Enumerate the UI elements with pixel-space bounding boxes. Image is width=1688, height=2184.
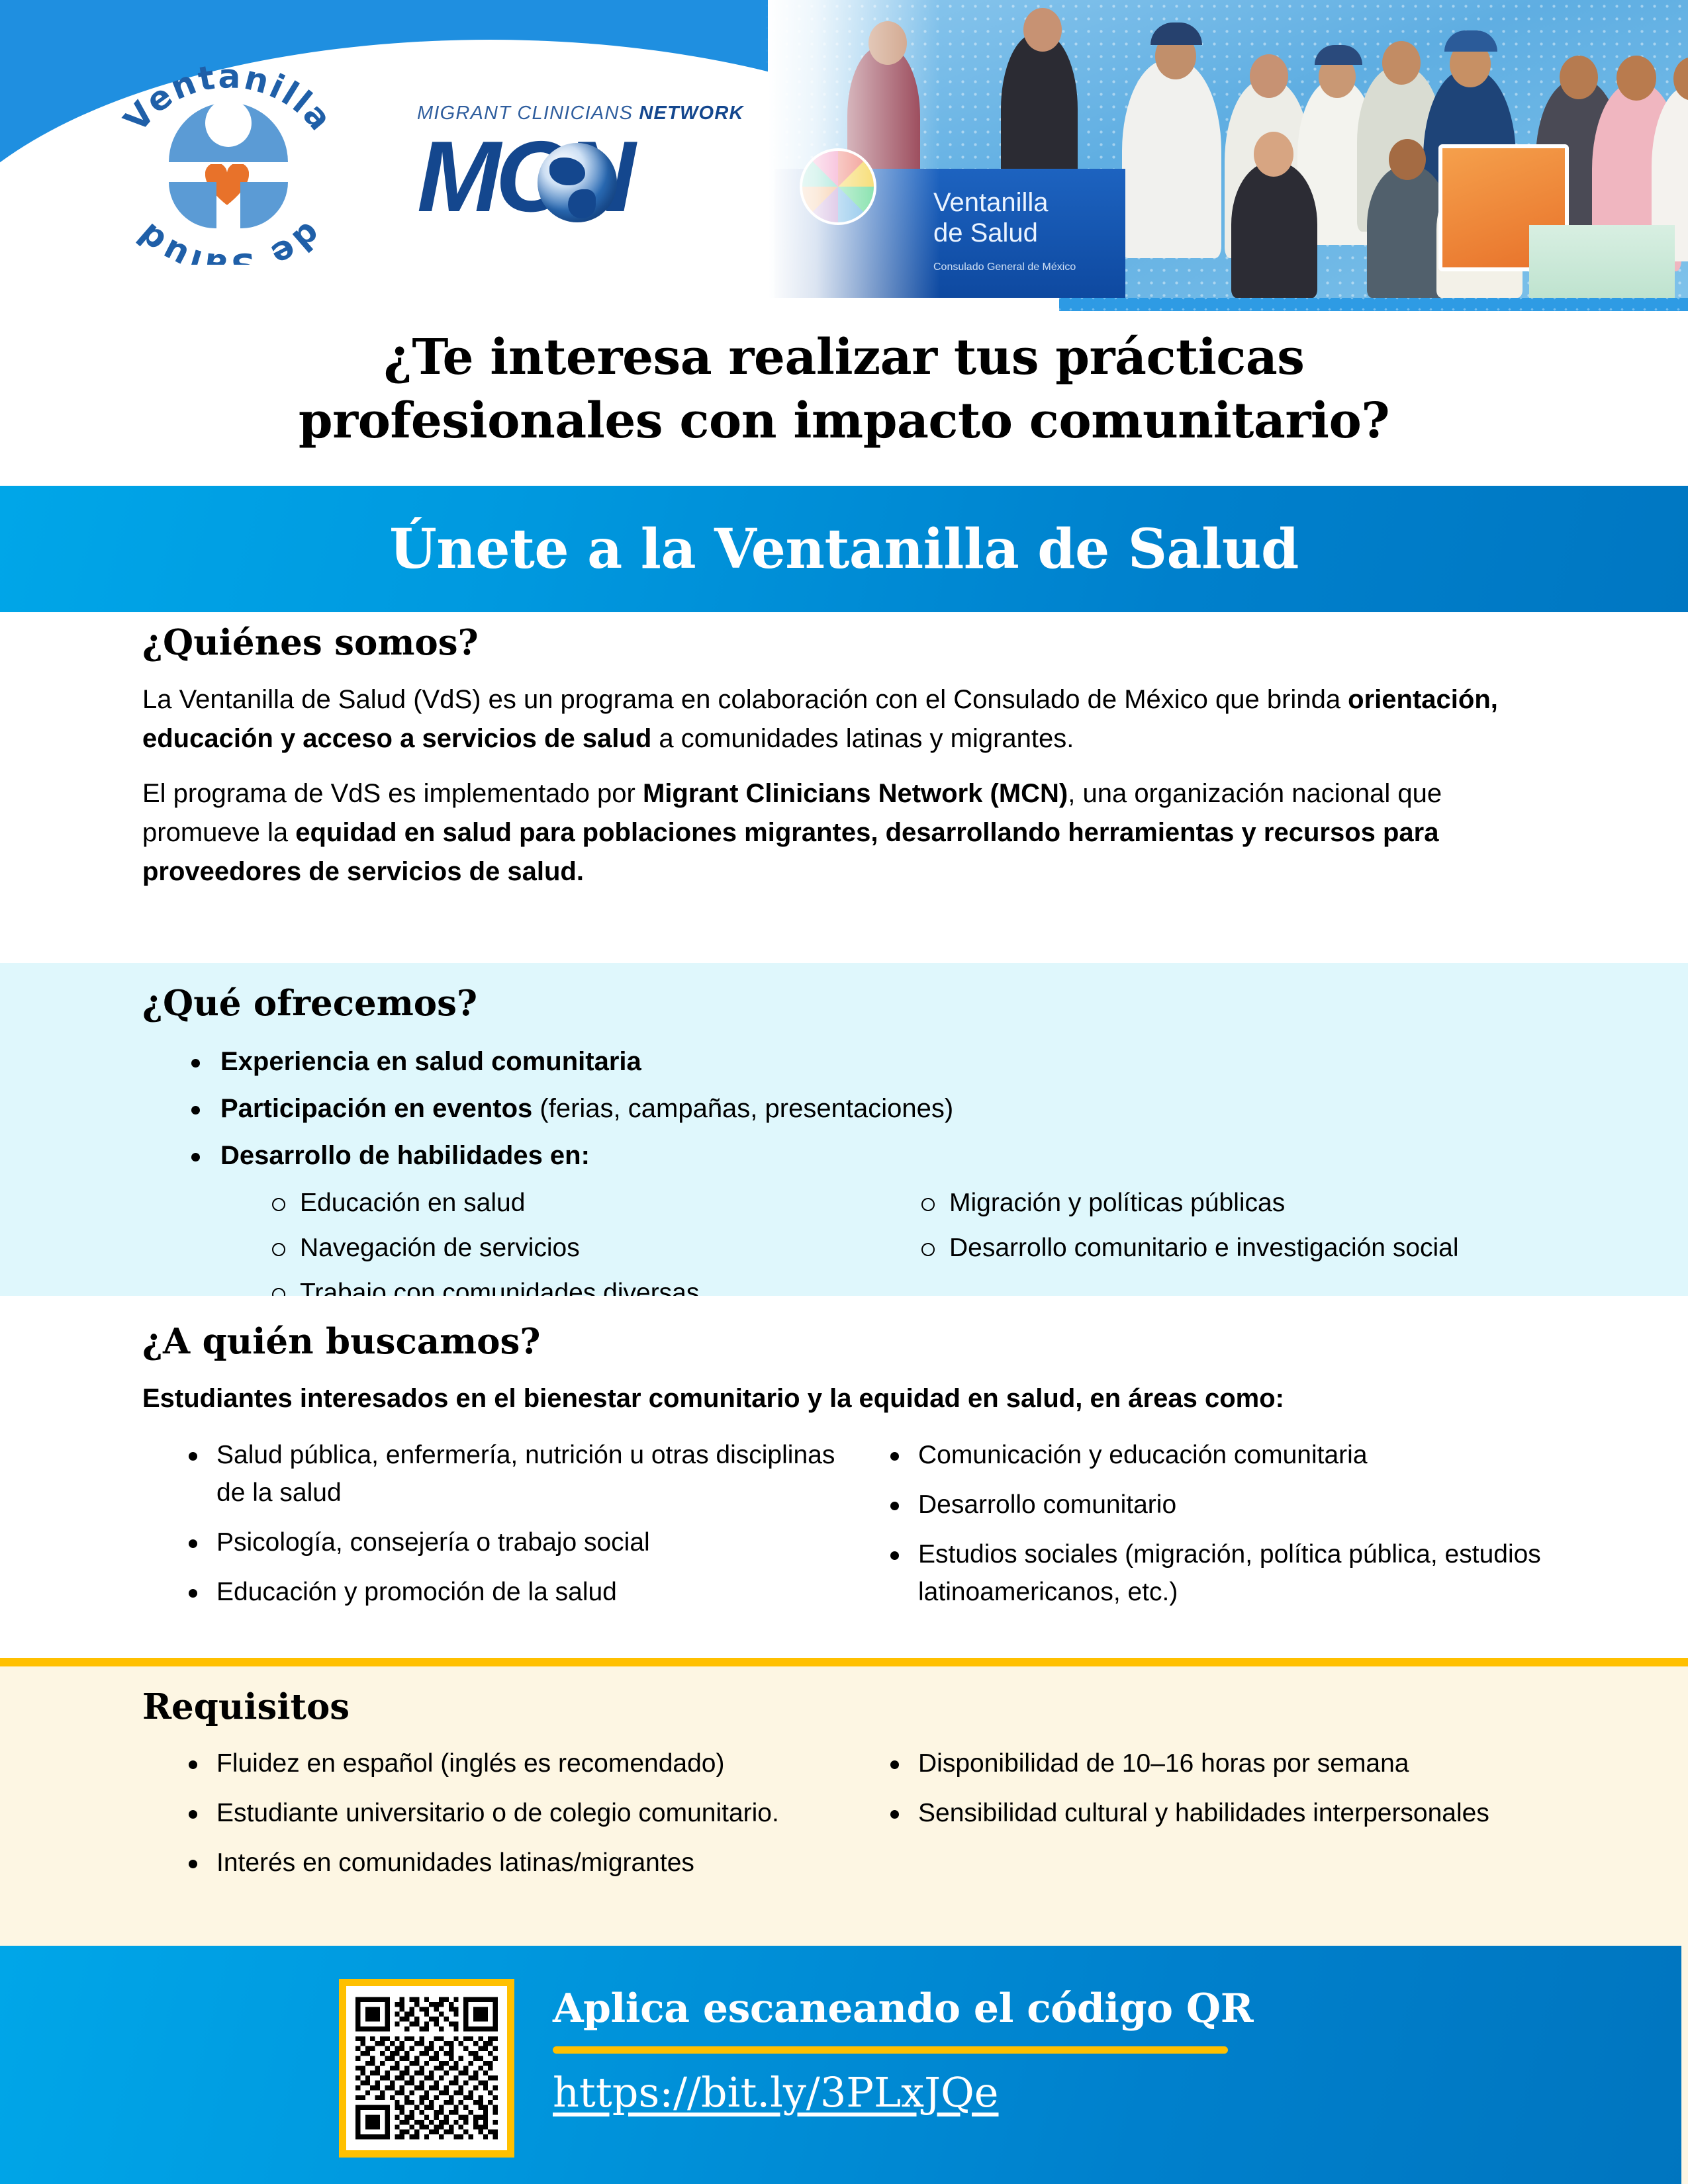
list-item: Migración y políticas públicas: [949, 1181, 1546, 1226]
photo-person-head: [1617, 56, 1656, 101]
list-item: Estudiante universitario o de colegio co…: [216, 1794, 844, 1832]
a-quien-buscamos-lead: Estudiantes interesados en el bienestar …: [142, 1379, 1546, 1418]
list-item: Navegación de servicios: [300, 1226, 883, 1271]
photo-person: [1122, 60, 1221, 258]
ofrecemos-sub-col-left: Educación en salud Navegación de servici…: [220, 1177, 883, 1316]
list-item: Experiencia en salud comunitaria: [220, 1041, 1546, 1083]
photo-left-fade: [768, 0, 940, 298]
footer-yellow-rule: [553, 2046, 1228, 2054]
ofrecemos-item-1-rest: (ferias, campañas, presentaciones): [532, 1094, 953, 1123]
requisitos-list-right: Disponibilidad de 10–16 horas por semana…: [844, 1745, 1546, 1832]
buscamos-col-left: Salud pública, enfermería, nutrición u o…: [142, 1436, 844, 1623]
yellow-divider-bar: [0, 1658, 1688, 1666]
flyer-page: Ventanilla de Salud Consulado General de…: [0, 0, 1688, 2184]
list-item: Educación en salud: [300, 1181, 883, 1226]
ventanilla-de-salud-logo: Ventanilla de Salud: [99, 46, 357, 265]
ofrecemos-sub-col-right: Migración y políticas públicas Desarroll…: [883, 1177, 1546, 1316]
qr-code-icon[interactable]: [355, 1995, 498, 2141]
buscamos-col-right: Comunicación y educación comunitaria Des…: [844, 1436, 1546, 1623]
footer-cta-content: Aplica escaneando el código QR https://b…: [553, 1985, 1413, 2116]
qs-p2-d: equidad en salud para poblaciones migran…: [142, 818, 1438, 886]
photo-person-head: [1250, 54, 1288, 98]
ofrecemos-item-1-bold: Participación en eventos: [220, 1094, 532, 1123]
list-item: Fluidez en español (inglés es recomendad…: [216, 1745, 844, 1782]
vds-head-shape: [205, 99, 252, 147]
qs-p2-a: El programa de VdS es implementado por: [142, 779, 643, 808]
header-photo: Ventanilla de Salud Consulado General de…: [768, 0, 1688, 298]
photo-table-line1: Ventanilla: [933, 188, 1048, 217]
photo-person-head: [1560, 56, 1598, 99]
list-item: Comunicación y educación comunitaria: [918, 1436, 1546, 1474]
mcn-logo: MIGRANT CLINICIANS NETWORK MCN: [417, 103, 735, 245]
buscamos-columns: Salud pública, enfermería, nutrición u o…: [142, 1436, 1546, 1623]
list-item: Participación en eventos (ferias, campañ…: [220, 1088, 1546, 1130]
photo-person-head: [1382, 41, 1421, 85]
ofrecemos-sublist-right: Migración y políticas públicas Desarroll…: [883, 1181, 1546, 1271]
qs-p1-c: a comunidades latinas y migrantes.: [651, 724, 1074, 753]
section-a-quien-buscamos: ¿A quién buscamos? Estudiantes interesad…: [0, 1296, 1688, 1658]
list-item: Interés en comunidades latinas/migrantes: [216, 1844, 844, 1882]
mcn-tagline-bold: NETWORK: [639, 103, 743, 124]
section-requisitos: Requisitos Fluidez en español (inglés es…: [0, 1666, 1688, 1946]
headline-line-1: ¿Te interesa realizar tus prácticas: [0, 326, 1688, 389]
photo-table-banner: Ventanilla de Salud Consulado General de…: [933, 187, 1076, 283]
list-item: Desarrollo comunitario e investigación s…: [949, 1226, 1546, 1271]
apply-link[interactable]: https://bit.ly/3PLxJQe: [553, 2068, 999, 2116]
list-item: Desarrollo de habilidades en: Educación …: [220, 1135, 1546, 1316]
photo-table-sub: Consulado General de México: [933, 252, 1076, 283]
list-item: Sensibilidad cultural y habilidades inte…: [918, 1794, 1546, 1832]
quienes-somos-paragraph-1: La Ventanilla de Salud (VdS) es un progr…: [142, 680, 1546, 758]
photo-person-head: [1023, 8, 1062, 52]
requisitos-col-left: Fluidez en español (inglés es recomendad…: [142, 1745, 844, 1893]
ofrecemos-item-0-bold: Experiencia en salud comunitaria: [220, 1047, 641, 1076]
section-que-ofrecemos: ¿Qué ofrecemos? Experiencia en salud com…: [0, 963, 1688, 1296]
qs-p2-b: Migrant Clinicians Network (MCN): [643, 779, 1068, 808]
requisitos-list-left: Fluidez en español (inglés es recomendad…: [142, 1745, 844, 1882]
photo-table-line2: de Salud: [933, 218, 1038, 248]
banner-title: Únete a la Ventanilla de Salud: [389, 518, 1299, 581]
que-ofrecemos-list: Experiencia en salud comunitaria Partici…: [142, 1041, 1546, 1316]
ofrecemos-item-2-bold: Desarrollo de habilidades en:: [220, 1141, 590, 1170]
requisitos-heading: Requisitos: [142, 1686, 1546, 1727]
globe-icon: [538, 143, 617, 222]
list-item: Salud pública, enfermería, nutrición u o…: [216, 1436, 844, 1512]
page-headline: ¿Te interesa realizar tus prácticas prof…: [0, 326, 1688, 453]
requisitos-col-right: Disponibilidad de 10–16 horas por semana…: [844, 1745, 1546, 1893]
headline-line-2: profesionales con impacto comunitario?: [0, 389, 1688, 453]
list-item: Disponibilidad de 10–16 horas por semana: [918, 1745, 1546, 1782]
photo-person: [1231, 162, 1317, 298]
qs-p1-a: La Ventanilla de Salud (VdS) es un progr…: [142, 685, 1348, 714]
header-band: Ventanilla de Salud Consulado General de…: [0, 0, 1688, 311]
list-item: Psicología, consejería o trabajo social: [216, 1524, 844, 1561]
mcn-wordmark: MCN: [417, 127, 735, 226]
que-ofrecemos-heading: ¿Qué ofrecemos?: [142, 983, 1546, 1024]
ofrecemos-sub-columns: Educación en salud Navegación de servici…: [220, 1177, 1546, 1316]
qr-code-frame[interactable]: [339, 1979, 514, 2158]
qr-code-inner: [346, 1986, 507, 2150]
requisitos-columns: Fluidez en español (inglés es recomendad…: [142, 1745, 1546, 1893]
a-quien-buscamos-heading: ¿A quién buscamos?: [142, 1321, 1546, 1362]
section-quienes-somos: ¿Quiénes somos? La Ventanilla de Salud (…: [0, 622, 1688, 963]
svg-text:de Salud: de Salud: [128, 214, 328, 265]
photo-person-head: [1389, 139, 1426, 180]
photo-products: [1529, 225, 1675, 298]
photo-person-head: [1254, 132, 1293, 177]
quienes-somos-paragraph-2: El programa de VdS es implementado por M…: [142, 774, 1546, 891]
title-banner: Únete a la Ventanilla de Salud: [0, 486, 1688, 612]
buscamos-list-left: Salud pública, enfermería, nutrición u o…: [142, 1436, 844, 1611]
list-item: Desarrollo comunitario: [918, 1486, 1546, 1524]
list-item: Estudios sociales (migración, política p…: [918, 1535, 1546, 1611]
quienes-somos-heading: ¿Quiénes somos?: [142, 622, 1546, 663]
buscamos-list-right: Comunicación y educación comunitaria Des…: [844, 1436, 1546, 1611]
list-item: Educación y promoción de la salud: [216, 1573, 844, 1611]
footer-cta-title: Aplica escaneando el código QR: [553, 1985, 1413, 2032]
